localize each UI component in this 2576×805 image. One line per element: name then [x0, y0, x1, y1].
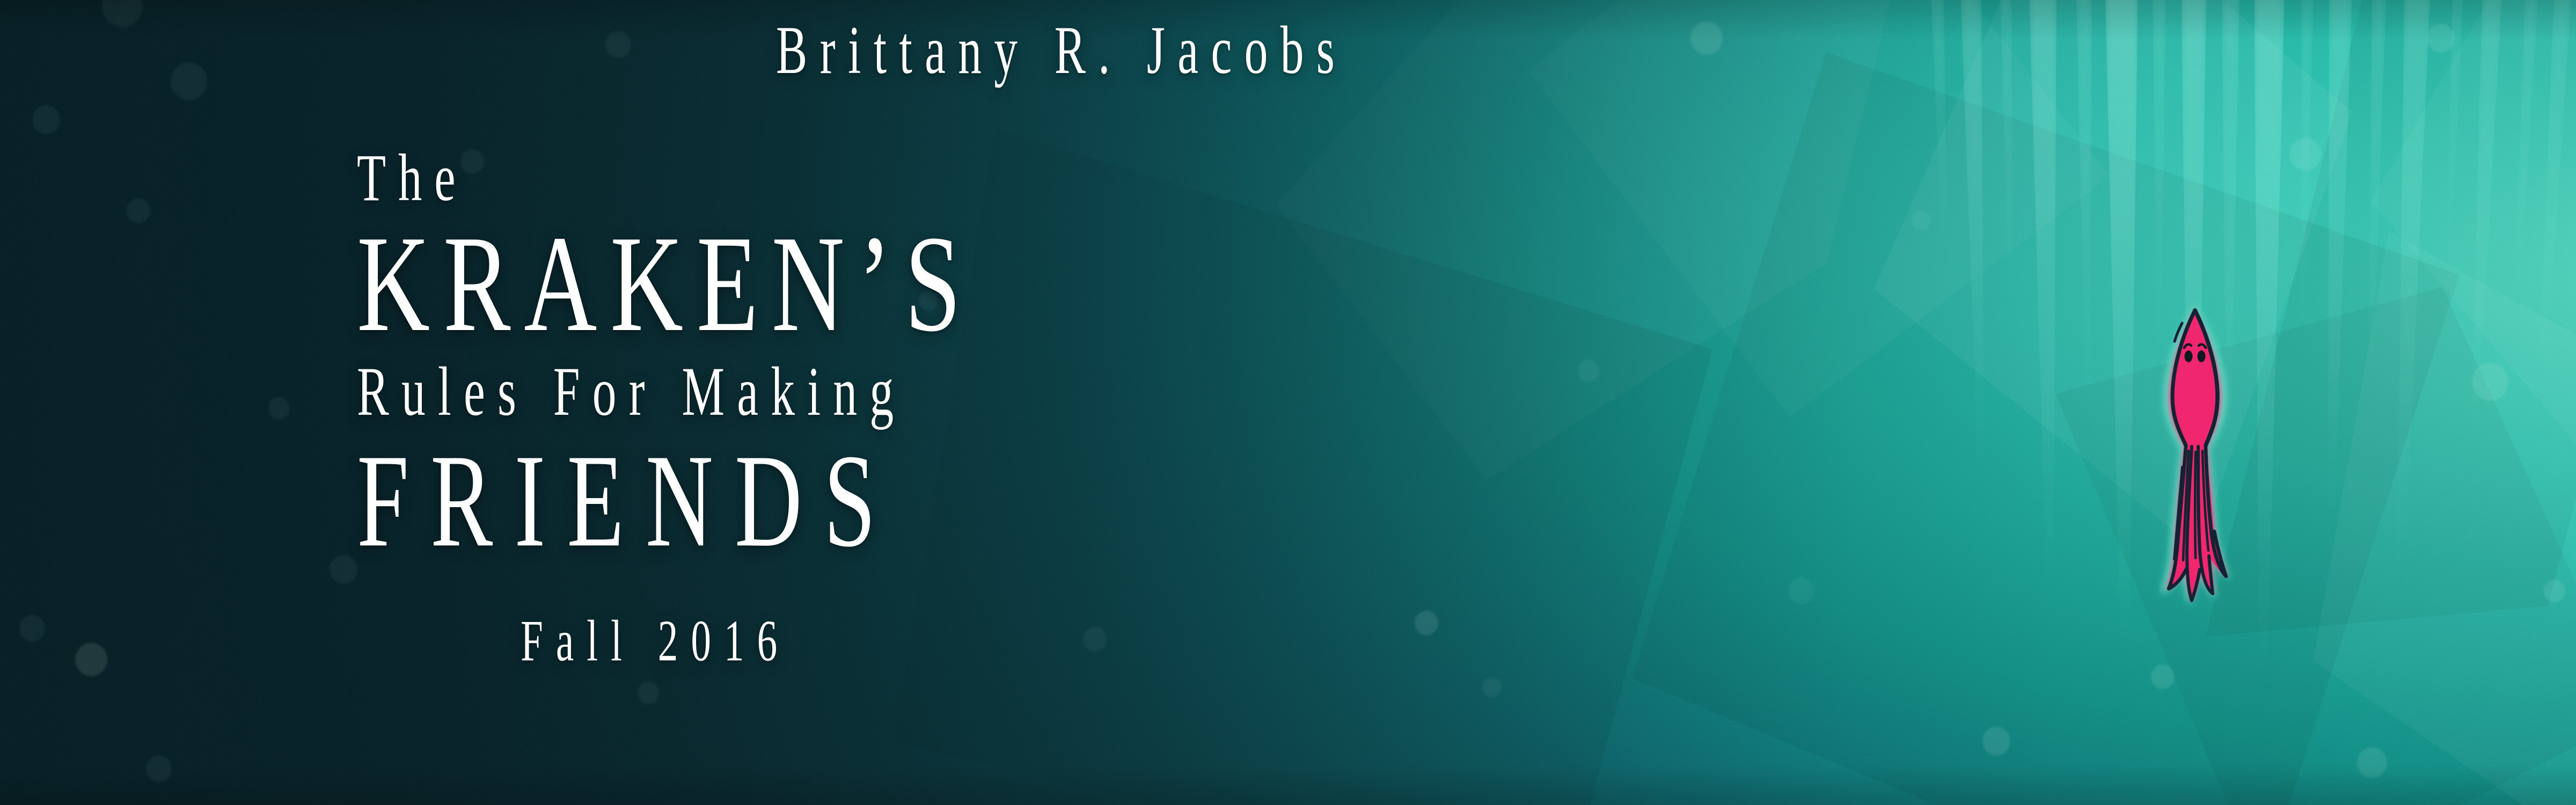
squid-illustration: [2125, 290, 2265, 612]
term-label: Fall 2016: [521, 612, 790, 670]
title-line-the: The: [357, 145, 468, 212]
author-name: Brittany R. Jacobs: [776, 16, 1347, 85]
title-line-friends: FRIENDS: [357, 435, 897, 568]
title-line-rules: Rules For Making: [357, 357, 906, 427]
squid-right-eye: [2198, 350, 2206, 362]
cover-text-block: Brittany R. Jacobs The KRAKEN’S Rules Fo…: [0, 0, 1932, 805]
squid-left-eye: [2185, 350, 2193, 362]
book-cover-banner: Brittany R. Jacobs The KRAKEN’S Rules Fo…: [0, 0, 2576, 805]
title-line-krakens: KRAKEN’S: [357, 215, 974, 353]
